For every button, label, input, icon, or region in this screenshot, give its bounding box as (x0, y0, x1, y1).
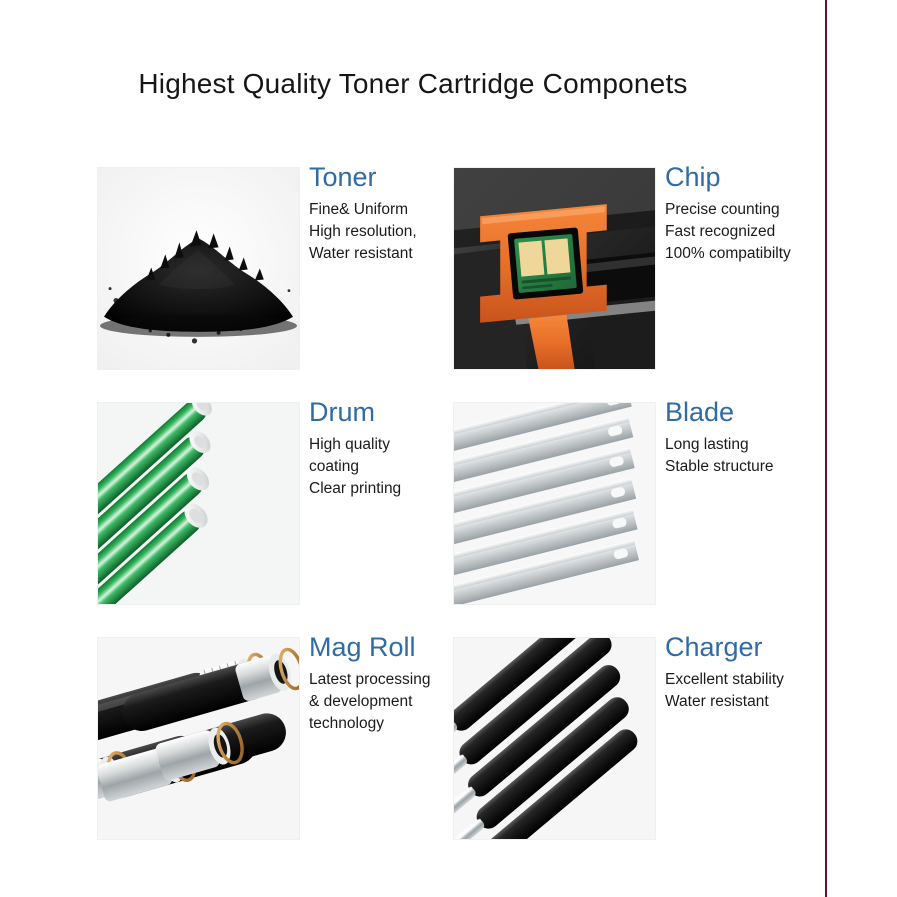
feature-text-blade: Blade Long lasting Stable structure (665, 398, 865, 478)
page-title: Highest Quality Toner Cartridge Componet… (0, 68, 826, 100)
feature-cell-mag-roll: Mag Roll Latest processing & development… (97, 637, 460, 867)
feature-heading: Blade (665, 398, 865, 427)
feature-text-chip: Chip Precise counting Fast recognized 10… (665, 163, 865, 265)
feature-cell-chip: Chip Precise counting Fast recognized 10… (453, 167, 816, 397)
feature-line: Fast recognized (665, 221, 865, 243)
feature-cell-blade: Blade Long lasting Stable structure (453, 402, 816, 632)
feature-line: Long lasting (665, 434, 865, 456)
feature-cell-charger: Charger Excellent stability Water resist… (453, 637, 816, 867)
product-feature-poster: Highest Quality Toner Cartridge Componet… (0, 0, 897, 897)
opc-drum-photo (97, 402, 300, 605)
feature-heading: Chip (665, 163, 865, 192)
feature-grid: Toner Fine& Uniform High resolution, Wat… (97, 167, 827, 857)
charge-roller-photo (453, 637, 656, 840)
feature-line: Water resistant (665, 691, 880, 713)
cartridge-chip-photo (453, 167, 656, 370)
feature-cell-drum: Drum High quality coating Clear printing (97, 402, 460, 632)
feature-heading: Charger (665, 633, 880, 662)
magnetic-roller-photo (97, 637, 300, 840)
wiper-blade-photo (453, 402, 656, 605)
feature-line: Stable structure (665, 456, 865, 478)
feature-line: Precise counting (665, 199, 865, 221)
toner-powder-photo (97, 167, 300, 370)
feature-line: Excellent stability (665, 669, 880, 691)
feature-text-charger: Charger Excellent stability Water resist… (665, 633, 880, 713)
feature-cell-toner: Toner Fine& Uniform High resolution, Wat… (97, 167, 460, 397)
feature-line: 100% compatibilty (665, 243, 865, 265)
